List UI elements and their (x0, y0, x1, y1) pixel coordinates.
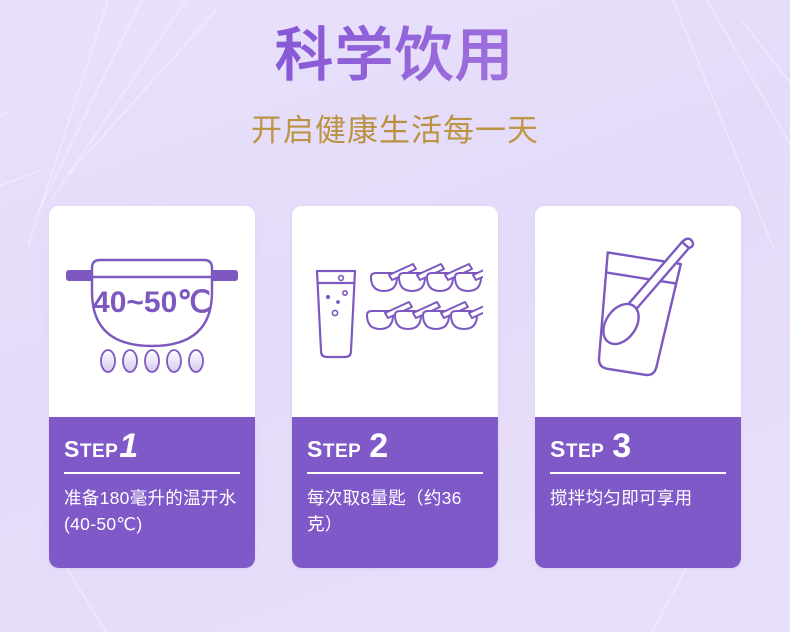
page-header: 科学饮用 开启健康生活每一天 (0, 0, 790, 150)
step-1-illustration: 40~50℃ (49, 206, 255, 417)
step-1-body: STEP 1 准备180毫升的温开水(40-50℃) (49, 417, 255, 568)
step-3-number: 3 (612, 431, 631, 462)
page-subtitle: 开启健康生活每一天 (0, 89, 790, 150)
step-1-word: STEP (64, 436, 118, 463)
step-2-illustration (292, 206, 498, 417)
step-1-description: 准备180毫升的温开水(40-50℃) (64, 485, 240, 538)
step-card-3[interactable]: STEP 3 搅拌均匀即可享用 (535, 206, 741, 568)
step-2-divider (307, 472, 483, 474)
step-1-number: 1 (119, 431, 138, 462)
warm-water-bowl-icon: 40~50℃ (64, 246, 240, 378)
step-2-heading: STEP 2 (307, 431, 483, 463)
step-3-word: STEP (550, 436, 604, 463)
step-2-body: STEP 2 每次取8量匙（约36克） (292, 417, 498, 568)
step-3-illustration (535, 206, 741, 417)
glass-and-scoops-icon (307, 257, 483, 367)
glass-with-spoon-icon (568, 232, 708, 392)
step-3-body: STEP 3 搅拌均匀即可享用 (535, 417, 741, 568)
step-2-description: 每次取8量匙（约36克） (307, 485, 483, 538)
step-3-divider (550, 472, 726, 474)
page-title: 科学饮用 (0, 0, 790, 89)
step-3-heading: STEP 3 (550, 431, 726, 463)
step-card-2[interactable]: STEP 2 每次取8量匙（约36克） (292, 206, 498, 568)
water-glass-icon (317, 271, 355, 357)
step-card-1[interactable]: 40~50℃ STEP 1 准备180毫升的温开水(40-50℃) (49, 206, 255, 568)
temperature-label: 40~50℃ (93, 286, 211, 319)
step-1-heading: STEP 1 (64, 431, 240, 463)
step-1-divider (64, 472, 240, 474)
step-2-number: 2 (369, 431, 388, 462)
step-2-word: STEP (307, 436, 361, 463)
step-3-description: 搅拌均匀即可享用 (550, 485, 726, 511)
promo-page: 科学饮用 开启健康生活每一天 (0, 0, 790, 632)
steps-container: 40~50℃ STEP 1 准备180毫升的温开水(40-50℃) (49, 206, 741, 568)
